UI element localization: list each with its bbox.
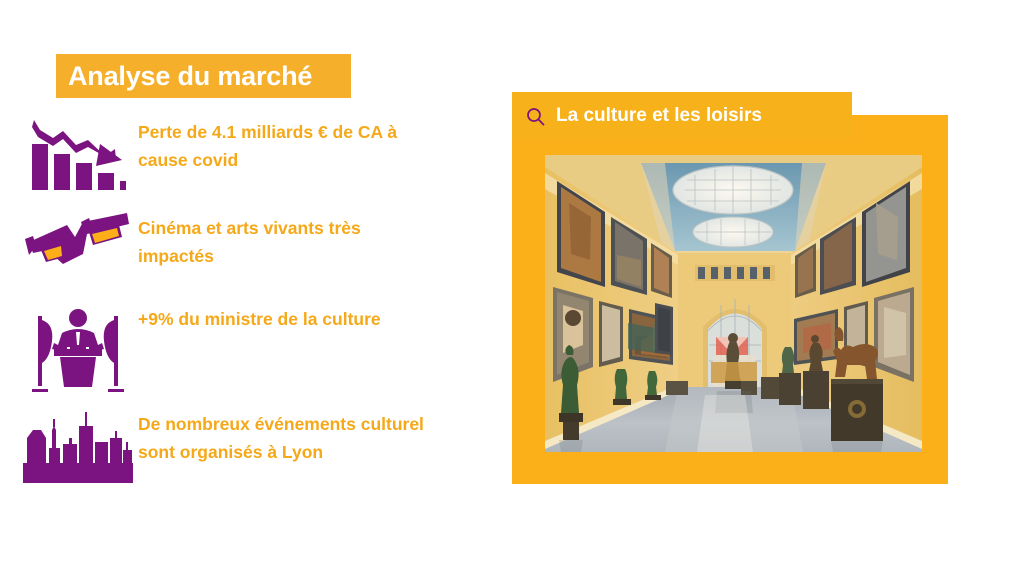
list-item: +9% du ministre de la culture bbox=[18, 303, 428, 395]
culture-panel-title: La culture et les loisirs bbox=[556, 105, 762, 127]
list-item: Perte de 4.1 milliards € de CA à cause c… bbox=[18, 116, 428, 198]
list-item-label: Cinéma et arts vivants très impactés bbox=[138, 212, 428, 271]
list-item: De nombreux événements culturel sont org… bbox=[18, 408, 428, 483]
list-item-label: Perte de 4.1 milliards € de CA à cause c… bbox=[138, 116, 428, 175]
list-item-label: De nombreux événements culturel sont org… bbox=[138, 408, 428, 467]
podium-speaker-icon bbox=[18, 303, 138, 395]
list-item: Cinéma et arts vivants très impactés bbox=[18, 212, 428, 290]
list-item-label: +9% du ministre de la culture bbox=[138, 303, 428, 333]
page-title-banner: Analyse du marché bbox=[56, 54, 351, 98]
gallery-photo bbox=[545, 155, 922, 452]
culture-panel-header: La culture et les loisirs bbox=[512, 92, 852, 139]
declining-bar-chart-icon bbox=[18, 116, 138, 198]
city-skyline-icon bbox=[18, 408, 138, 483]
3d-cinema-glasses-icon bbox=[18, 212, 138, 290]
search-icon[interactable] bbox=[526, 107, 545, 126]
page-title: Analyse du marché bbox=[56, 61, 312, 92]
